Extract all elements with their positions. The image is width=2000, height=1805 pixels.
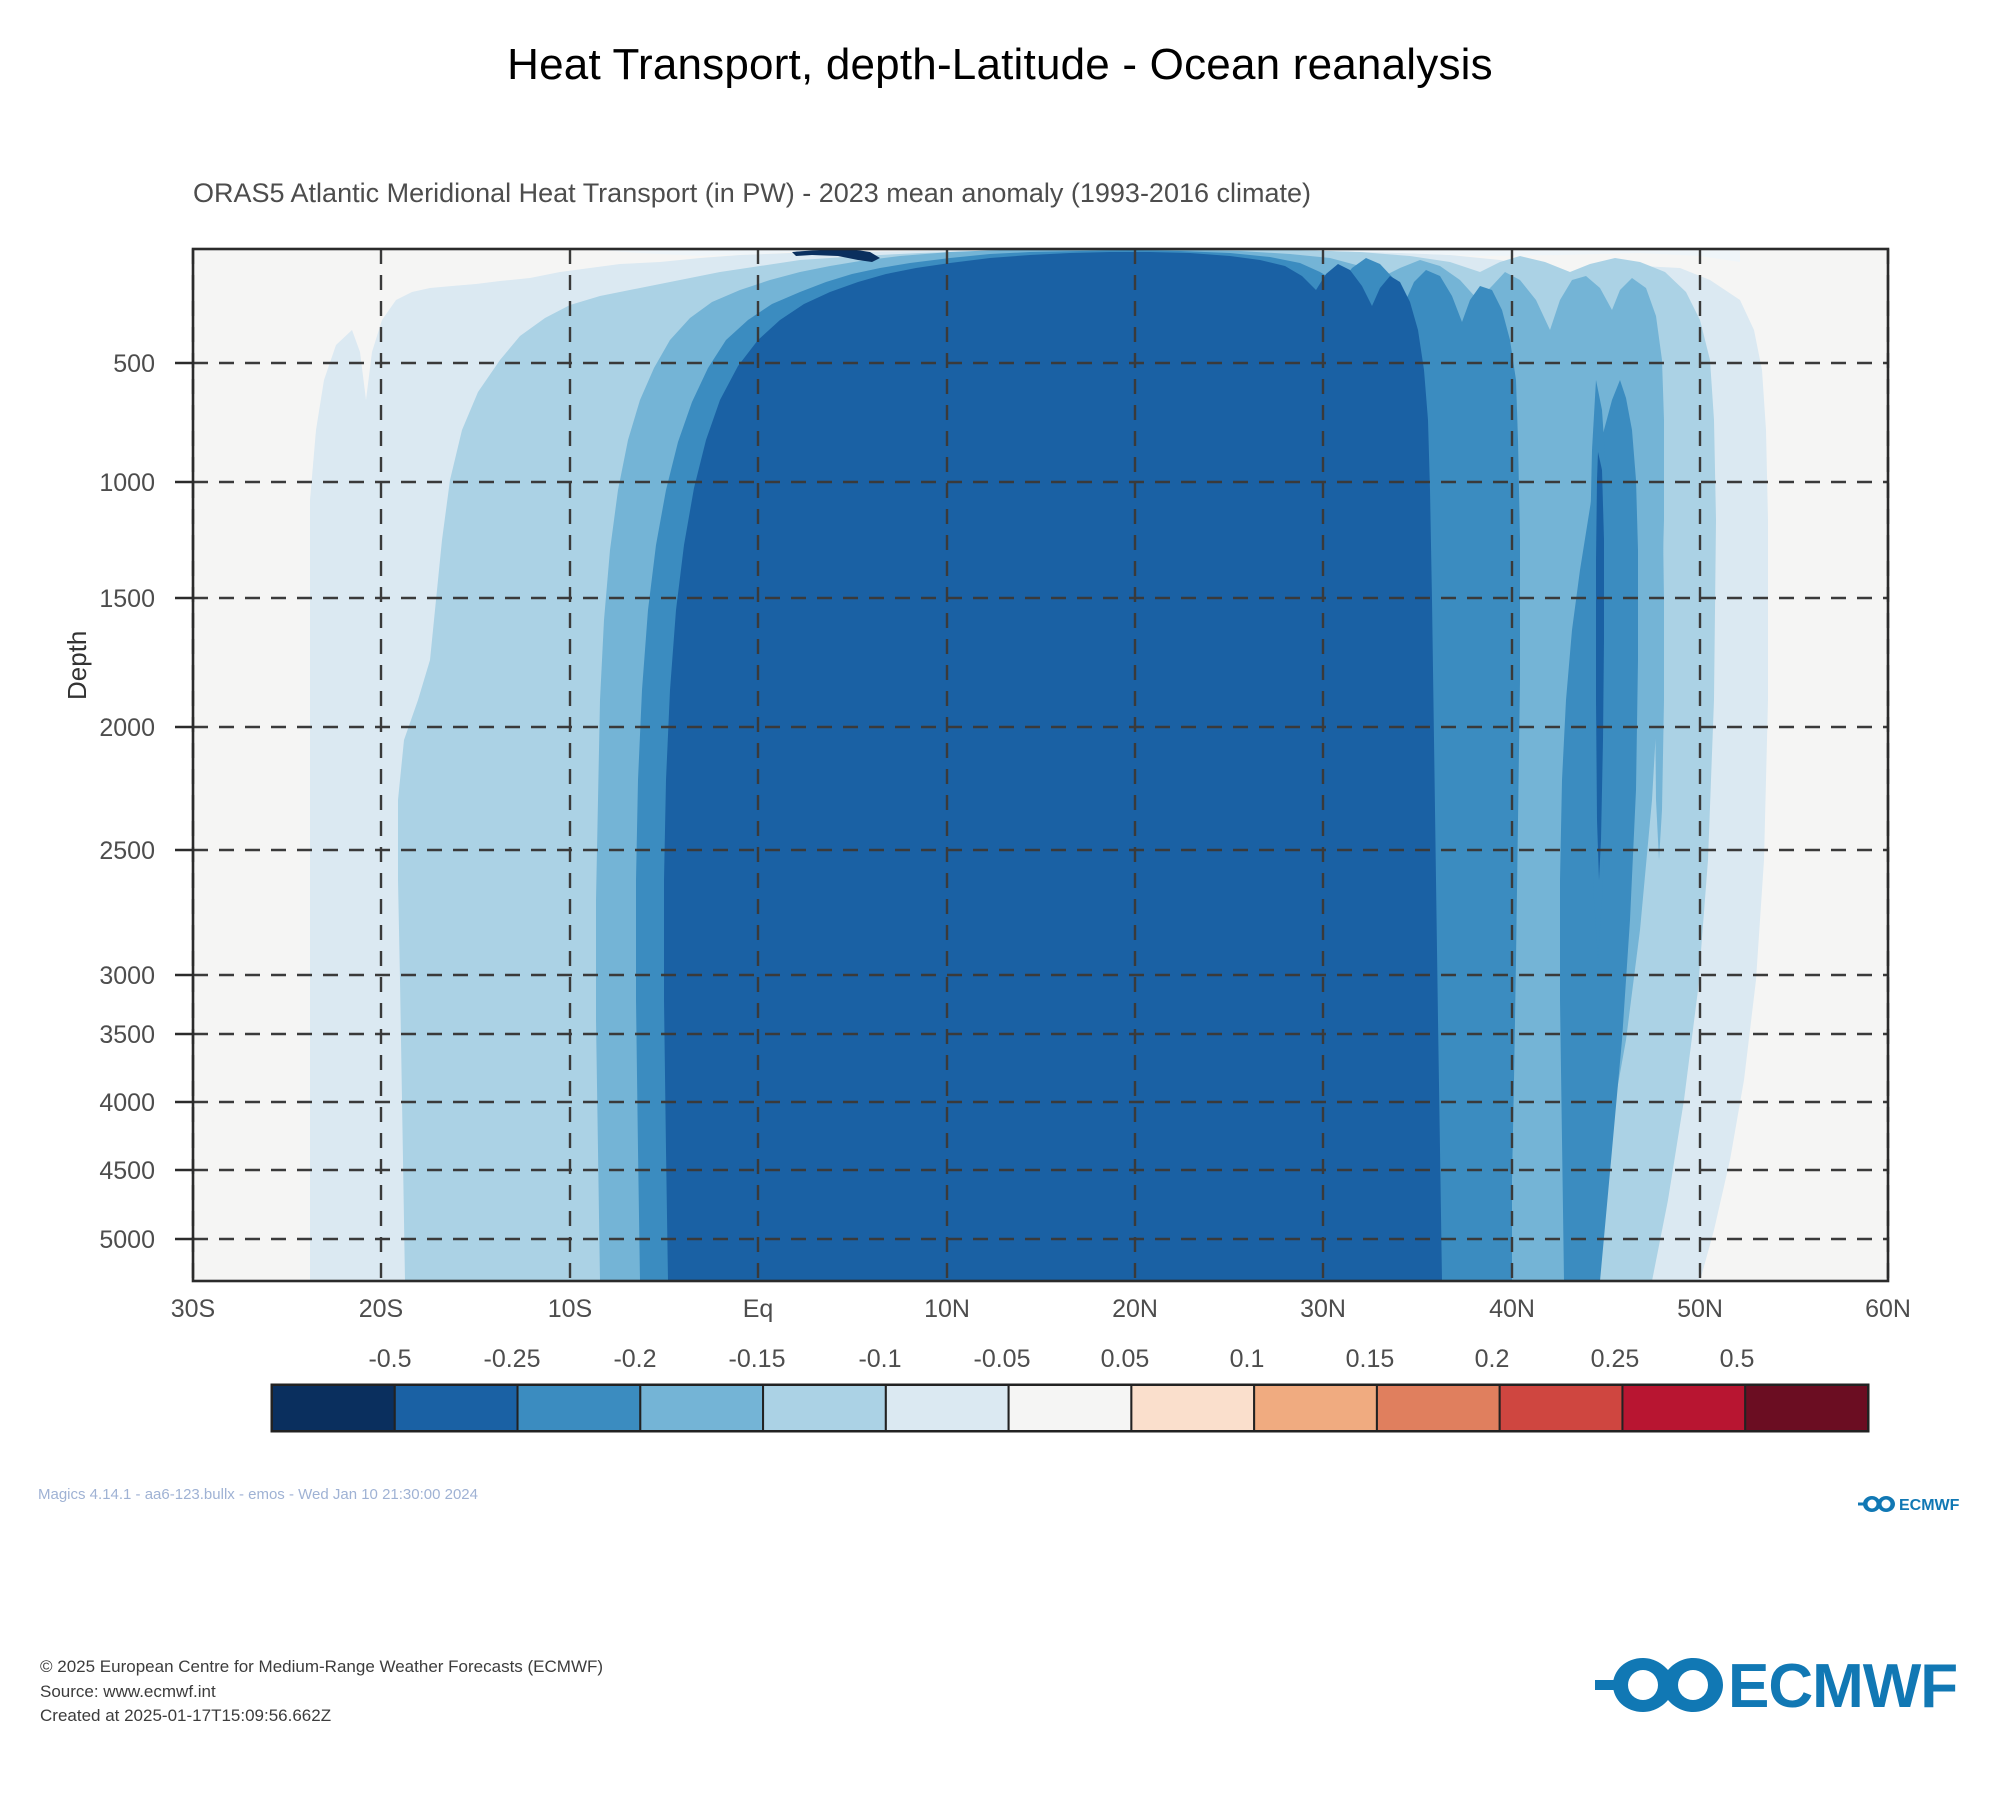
colorbar-swatch-10 — [1500, 1385, 1623, 1431]
figure-root: Heat Transport, depth-Latitude - Ocean r… — [0, 0, 2000, 1800]
contour-plot-svg — [0, 0, 2000, 1800]
colorbar-swatch-3 — [640, 1385, 763, 1431]
y-axis-title: Depth — [62, 631, 93, 700]
cbar-label-n02: -0.2 — [585, 1345, 685, 1374]
colorbar-swatch-4 — [763, 1385, 886, 1431]
x-tick-label-50n: 50N — [1650, 1295, 1750, 1324]
footer-source: Source: www.ecmwf.int — [40, 1680, 603, 1705]
colorbar-swatch-8 — [1254, 1385, 1377, 1431]
y-tick-label-5000: 5000 — [35, 1226, 155, 1255]
colorbar-swatch-0 — [272, 1385, 395, 1431]
cbar-label-p025: 0.25 — [1565, 1345, 1665, 1374]
colorbar-swatch-11 — [1622, 1385, 1745, 1431]
colorbar-swatch-6 — [1009, 1385, 1132, 1431]
cbar-label-p015: 0.15 — [1320, 1345, 1420, 1374]
cbar-label-p005: 0.05 — [1075, 1345, 1175, 1374]
magics-version-text: Magics 4.14.1 - aa6-123.bullx - emos - W… — [38, 1486, 478, 1503]
ecmwf-logo-large: ECMWF — [1595, 1645, 1975, 1725]
cbar-label-n01: -0.1 — [830, 1345, 930, 1374]
x-tick-label-30s: 30S — [143, 1295, 243, 1324]
x-tick-label-10n: 10N — [897, 1295, 997, 1324]
cbar-label-n025: -0.25 — [462, 1345, 562, 1374]
x-tick-label-40n: 40N — [1462, 1295, 1562, 1324]
y-tick-label-3500: 3500 — [35, 1021, 155, 1050]
x-tick-label-eq: Eq — [708, 1295, 808, 1324]
y-tick-marks — [175, 363, 193, 1239]
x-tick-label-20s: 20S — [331, 1295, 431, 1324]
x-tick-label-60n: 60N — [1838, 1295, 1938, 1324]
x-tick-label-20n: 20N — [1085, 1295, 1185, 1324]
y-tick-label-2500: 2500 — [35, 837, 155, 866]
x-tick-label-30n: 30N — [1273, 1295, 1373, 1324]
colorbar-swatch-12 — [1745, 1385, 1868, 1431]
colorbar-swatch-1 — [395, 1385, 518, 1431]
cbar-label-p05: 0.5 — [1687, 1345, 1787, 1374]
cbar-label-p02: 0.2 — [1442, 1345, 1542, 1374]
ecmwf-logo-small: ECMWF — [1858, 1492, 1978, 1516]
svg-text:ECMWF: ECMWF — [1728, 1652, 1957, 1721]
y-tick-label-500: 500 — [35, 350, 155, 379]
y-tick-label-2000: 2000 — [35, 714, 155, 743]
plot-area: Depth 500 1000 1500 2000 2500 3000 3500 … — [0, 0, 2000, 1800]
colorbar — [272, 1385, 1868, 1431]
footer-copyright: © 2025 European Centre for Medium-Range … — [40, 1655, 603, 1680]
footer-text-block: © 2025 European Centre for Medium-Range … — [40, 1655, 603, 1729]
footer-created: Created at 2025-01-17T15:09:56.662Z — [40, 1704, 603, 1729]
cbar-label-n015: -0.15 — [707, 1345, 807, 1374]
cbar-label-n005: -0.05 — [952, 1345, 1052, 1374]
y-tick-label-3000: 3000 — [35, 962, 155, 991]
colorbar-swatch-7 — [1131, 1385, 1254, 1431]
svg-text:ECMWF: ECMWF — [1899, 1497, 1960, 1514]
x-tick-label-10s: 10S — [520, 1295, 620, 1324]
y-tick-label-1500: 1500 — [35, 585, 155, 614]
colorbar-swatch-5 — [886, 1385, 1009, 1431]
colorbar-swatch-9 — [1377, 1385, 1500, 1431]
y-tick-label-4000: 4000 — [35, 1089, 155, 1118]
contour-fills — [310, 249, 1768, 1281]
cbar-label-n05: -0.5 — [340, 1345, 440, 1374]
cbar-label-p01: 0.1 — [1197, 1345, 1297, 1374]
y-tick-label-1000: 1000 — [35, 469, 155, 498]
colorbar-swatch-2 — [518, 1385, 641, 1431]
contour-band-n025 — [664, 252, 1442, 1281]
y-tick-label-4500: 4500 — [35, 1157, 155, 1186]
